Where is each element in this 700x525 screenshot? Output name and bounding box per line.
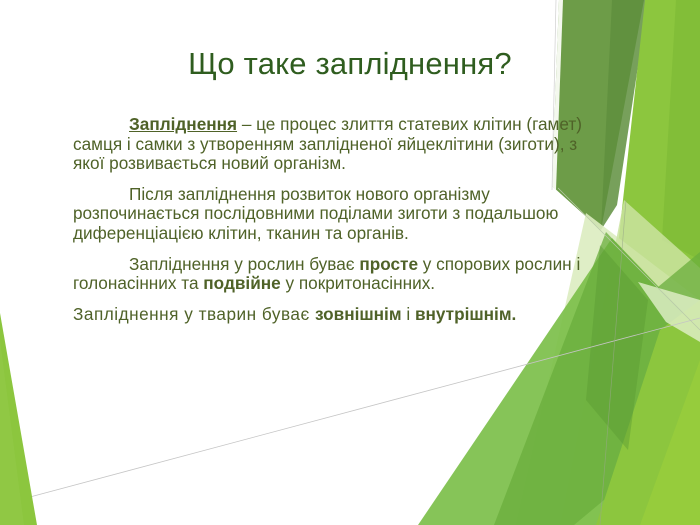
paragraph-development: Після запліднення розвиток нового органі…	[73, 185, 611, 244]
paragraph-plants-text-1: Запліднення у рослин буває	[129, 254, 359, 274]
presentation-slide: Що таке запліднення? Запліднення – це пр…	[0, 0, 700, 525]
paragraph-animals-text-1: Запліднення у тварин буває	[73, 304, 315, 324]
paragraph-animals: Запліднення у тварин буває зовнішнім і в…	[73, 305, 611, 325]
term-zaplidnennya: Запліднення	[129, 114, 237, 134]
page-title: Що таке запліднення?	[0, 44, 700, 84]
paragraph-plants-text-3: у покритонасінних.	[281, 273, 435, 293]
paragraph-animals-text-2: і	[402, 304, 415, 324]
emphasis-podviyne: подвійне	[203, 273, 280, 293]
emphasis-zovnishnim: зовнішнім	[315, 304, 402, 324]
paragraph-development-text: Після запліднення розвиток нового органі…	[73, 184, 558, 243]
paragraph-plants: Запліднення у рослин буває просте у спор…	[73, 255, 611, 294]
emphasis-vnutrishnim: внутрішнім.	[415, 304, 516, 324]
emphasis-proste: просте	[359, 254, 418, 274]
slide-body-text: Запліднення – це процес злиття статевих …	[73, 115, 611, 324]
paragraph-definition: Запліднення – це процес злиття статевих …	[73, 115, 611, 174]
